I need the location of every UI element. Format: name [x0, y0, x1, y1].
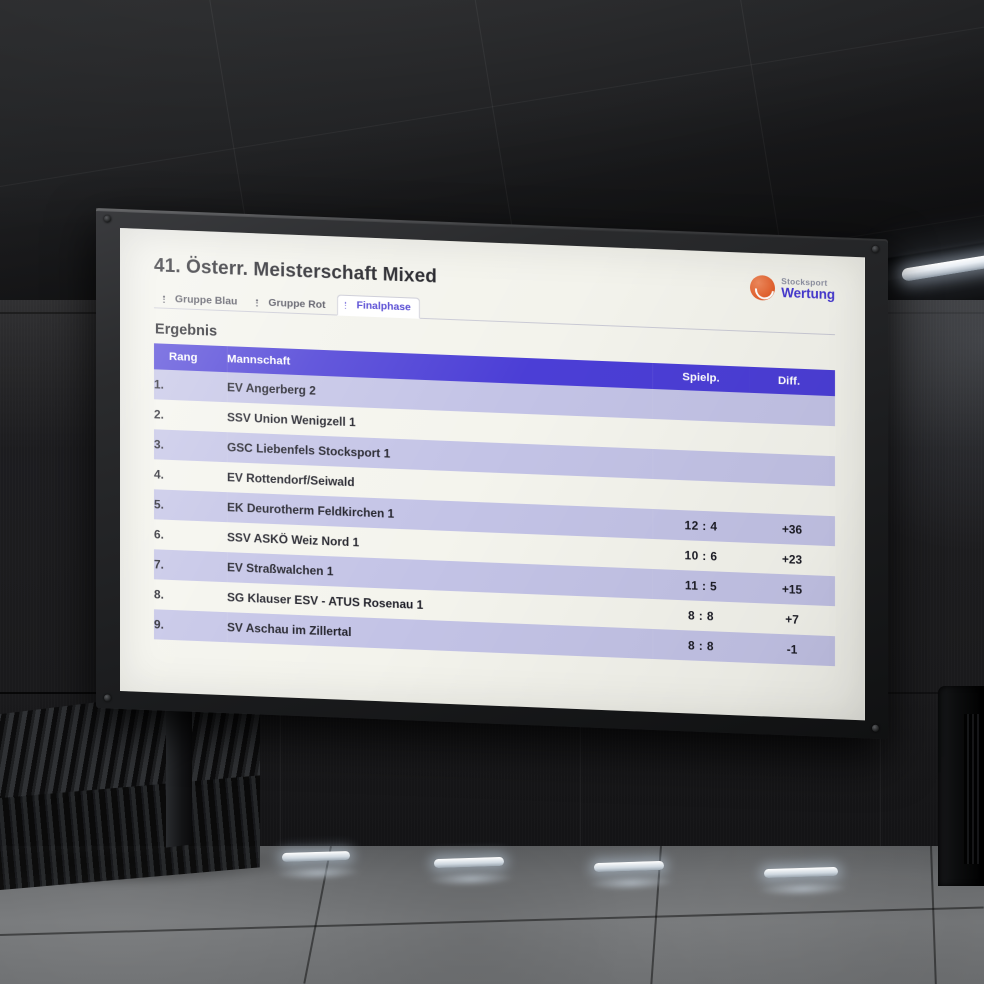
results-table: Rang Mannschaft Spielp. Diff. 1. EV Ange…: [154, 343, 835, 666]
cell-spielp: [653, 449, 749, 483]
cell-spielp: 12 : 4: [653, 509, 749, 543]
results-table-body: 1. EV Angerberg 2 2. SSV Union Wenigzell…: [154, 369, 835, 666]
cell-diff: +23: [749, 543, 835, 576]
page-title: 41. Österr. Meisterschaft Mixed: [154, 255, 437, 288]
bezel-screw-bottom-left: [104, 694, 111, 701]
cell-spielp: 8 : 8: [653, 629, 749, 663]
brand-logo-text: Stocksport Wertung: [781, 277, 835, 301]
bezel-screw-top-left: [104, 215, 111, 222]
bench-end-panel: [166, 694, 192, 847]
tab-gruppe-rot[interactable]: Gruppe Rot: [248, 292, 334, 315]
slatted-bench: [0, 700, 260, 880]
right-edge-fixture-slot: [964, 714, 980, 864]
tab-label: Gruppe Rot: [268, 298, 325, 311]
cell-diff: [749, 483, 835, 516]
cell-spielp: 10 : 6: [653, 539, 749, 573]
tab-finalphase[interactable]: Finalphase: [337, 295, 420, 319]
tab-label: Finalphase: [357, 301, 411, 314]
cell-rank: 1.: [154, 369, 227, 402]
cell-spielp: [653, 479, 749, 513]
cell-diff: [749, 423, 835, 456]
column-header-diff[interactable]: Diff.: [749, 367, 835, 396]
cell-diff: +15: [749, 573, 835, 606]
cell-diff: +36: [749, 513, 835, 546]
cell-rank: 5.: [154, 489, 227, 522]
cell-rank: 2.: [154, 399, 227, 432]
brand-logo[interactable]: Stocksport Wertung: [750, 275, 835, 303]
right-edge-fixture: [938, 686, 984, 886]
cell-spielp: 11 : 5: [653, 569, 749, 603]
column-header-rang[interactable]: Rang: [154, 343, 227, 372]
list-ranking-icon: [256, 299, 264, 307]
tab-label: Gruppe Blau: [175, 294, 237, 307]
cell-rank: 8.: [154, 579, 227, 612]
cell-diff: [749, 453, 835, 486]
display-screen: 41. Österr. Meisterschaft Mixed Stockspo…: [120, 228, 865, 720]
cell-spielp: [653, 419, 749, 453]
tab-gruppe-blau[interactable]: Gruppe Blau: [155, 289, 246, 313]
cell-spielp: [653, 389, 749, 423]
stocksport-stone-icon: [750, 275, 775, 301]
cell-diff: [749, 393, 835, 426]
brand-logo-line2: Wertung: [781, 286, 835, 302]
cell-rank: 6.: [154, 519, 227, 552]
cell-spielp: 8 : 8: [653, 599, 749, 633]
cell-rank: 7.: [154, 549, 227, 582]
cell-rank: 4.: [154, 459, 227, 492]
list-ranking-icon: [345, 302, 353, 310]
cell-rank: 3.: [154, 429, 227, 462]
bezel-screw-bottom-right: [872, 725, 879, 732]
bezel-screw-top-right: [872, 246, 879, 253]
wall-mounted-display: 41. Österr. Meisterschaft Mixed Stockspo…: [96, 208, 888, 739]
cell-diff: -1: [749, 633, 835, 666]
cell-rank: 9.: [154, 609, 227, 642]
list-ranking-icon: [163, 295, 171, 303]
room-scene: 41. Österr. Meisterschaft Mixed Stockspo…: [0, 0, 984, 984]
scoreboard-page: 41. Österr. Meisterschaft Mixed Stockspo…: [120, 228, 865, 720]
cell-diff: +7: [749, 603, 835, 636]
column-header-spielp[interactable]: Spielp.: [653, 363, 749, 393]
